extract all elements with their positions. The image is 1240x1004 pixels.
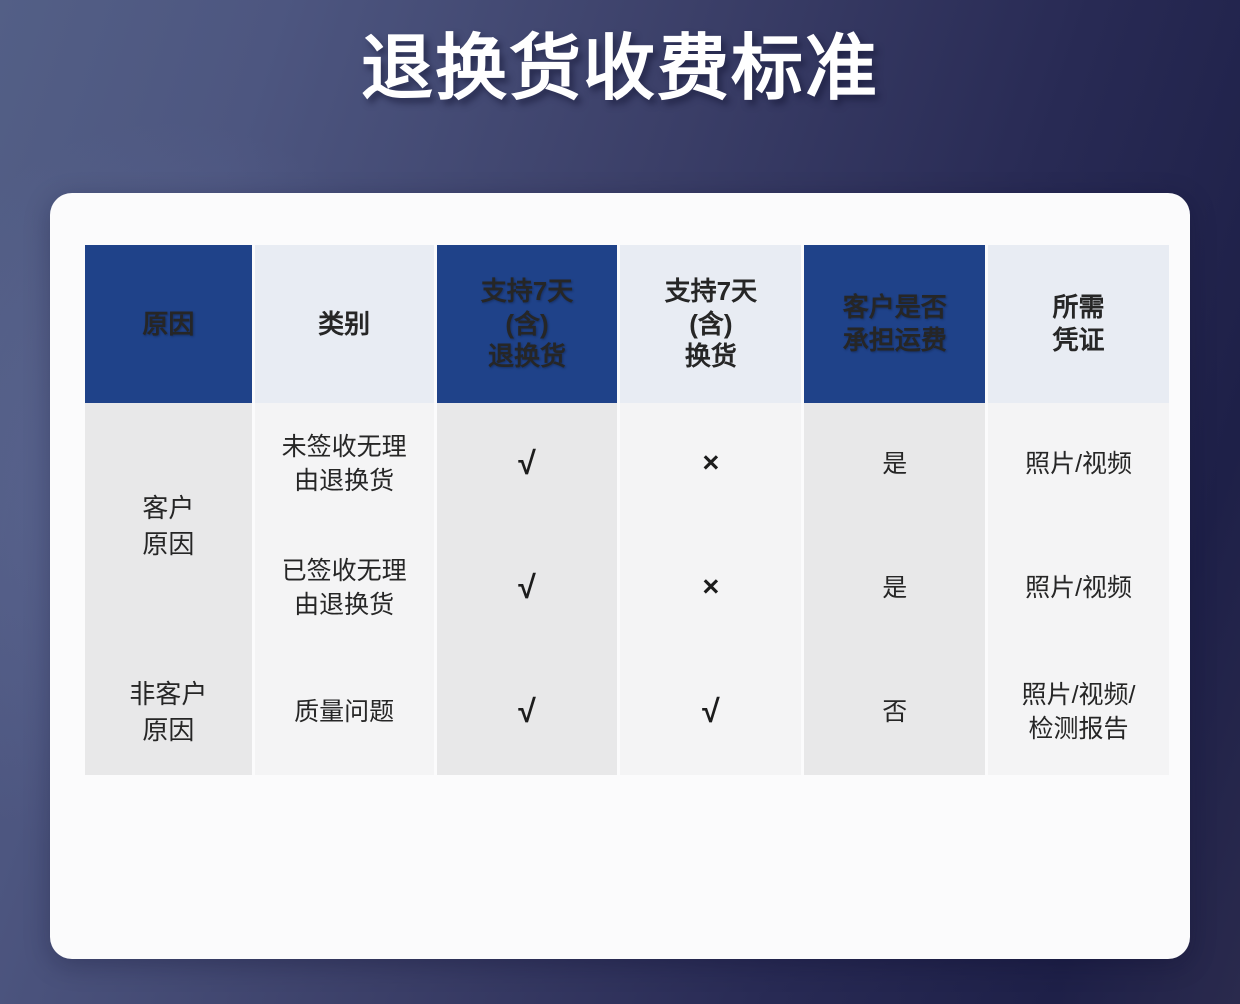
column-header-category: 类别: [255, 245, 434, 403]
page-title: 退换货收费标准: [0, 30, 1240, 109]
fee-table-container: 原因 类别 支持7天 (含) 退换货 支持7天 (含) 换货 客户是否 承担运费…: [82, 245, 1172, 775]
table-body: 客户 原因 未签收无理 由退换货 √ × 是 照片/视频 已签收无理 由退换货 …: [85, 403, 1169, 775]
table-row: 非客户 原因 质量问题 √ √ 否 照片/视频/ 检测报告: [85, 651, 1169, 775]
table-row: 客户 原因 未签收无理 由退换货 √ × 是 照片/视频: [85, 403, 1169, 527]
check-icon: √: [518, 571, 536, 603]
cell-required-proof: 照片/视频: [988, 527, 1169, 651]
cell-category: 未签收无理 由退换货: [255, 403, 434, 527]
cross-icon: ×: [702, 573, 719, 602]
cell-customer-pays-shipping: 否: [804, 651, 985, 775]
cell-required-proof: 照片/视频/ 检测报告: [988, 651, 1169, 775]
table-header: 原因 类别 支持7天 (含) 退换货 支持7天 (含) 换货 客户是否 承担运费…: [85, 245, 1169, 403]
cell-7day-return-exchange: √: [437, 651, 618, 775]
check-icon: √: [518, 695, 536, 727]
column-header-reason: 原因: [85, 245, 252, 403]
cell-category: 已签收无理 由退换货: [255, 527, 434, 651]
cell-7day-return-exchange: √: [437, 403, 618, 527]
cell-customer-pays-shipping: 是: [804, 527, 985, 651]
cell-category: 质量问题: [255, 651, 434, 775]
check-icon: √: [518, 447, 536, 479]
check-icon: √: [702, 695, 720, 727]
column-header-7day-exchange: 支持7天 (含) 换货: [620, 245, 801, 403]
cell-required-proof: 照片/视频: [988, 403, 1169, 527]
content-card: 原因 类别 支持7天 (含) 退换货 支持7天 (含) 换货 客户是否 承担运费…: [50, 193, 1190, 959]
cross-icon: ×: [702, 449, 719, 478]
cell-reason-group-customer: 客户 原因: [85, 403, 252, 651]
cell-customer-pays-shipping: 是: [804, 403, 985, 527]
cell-7day-exchange: ×: [620, 403, 801, 527]
cell-7day-exchange: √: [620, 651, 801, 775]
fee-table: 原因 类别 支持7天 (含) 退换货 支持7天 (含) 换货 客户是否 承担运费…: [82, 245, 1172, 775]
column-header-required-proof: 所需 凭证: [988, 245, 1169, 403]
column-header-7day-return-exchange: 支持7天 (含) 退换货: [437, 245, 618, 403]
cell-7day-return-exchange: √: [437, 527, 618, 651]
column-header-customer-pays-shipping: 客户是否 承担运费: [804, 245, 985, 403]
cell-reason-group-non-customer: 非客户 原因: [85, 651, 252, 775]
header-row: 原因 类别 支持7天 (含) 退换货 支持7天 (含) 换货 客户是否 承担运费…: [85, 245, 1169, 403]
cell-7day-exchange: ×: [620, 527, 801, 651]
